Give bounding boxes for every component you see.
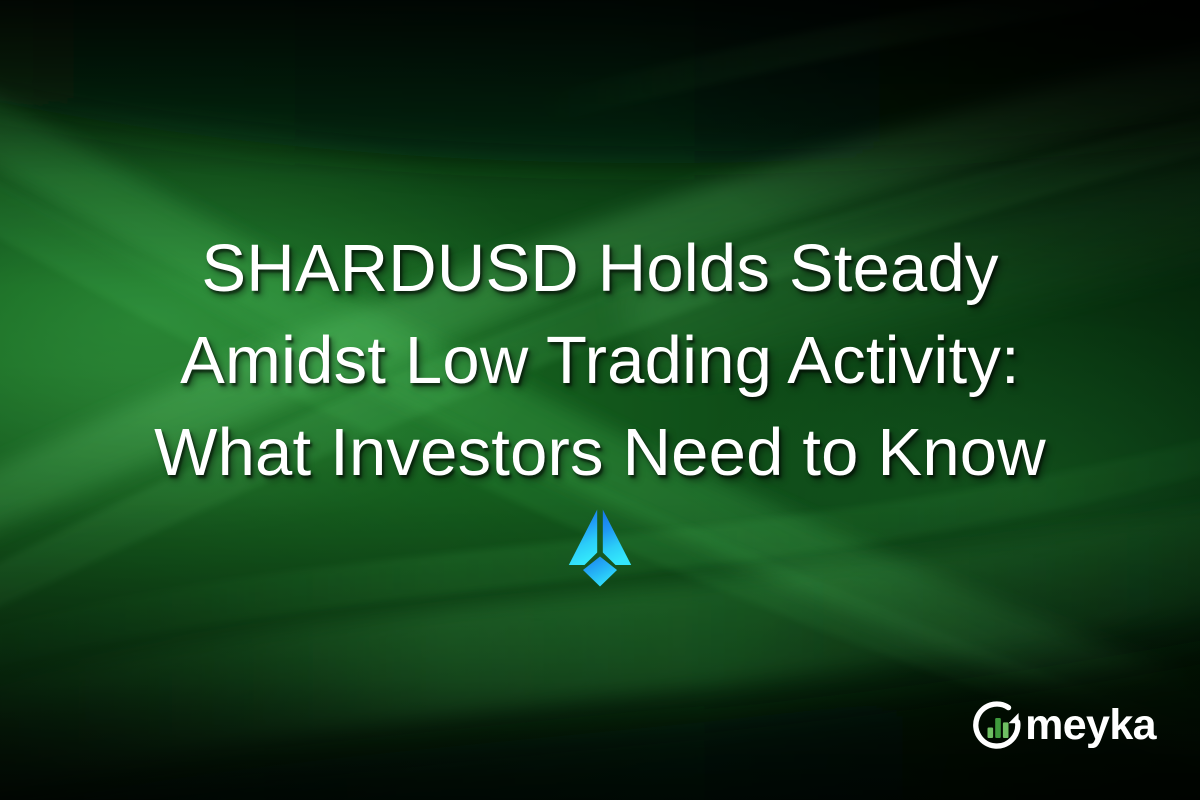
banner-headline: SHARDUSD Holds Steady Amidst Low Trading… (0, 223, 1200, 499)
shardeum-arrow-icon (566, 508, 634, 590)
headline-line-3: What Investors Need to Know (40, 407, 1160, 499)
headline-line-2: Amidst Low Trading Activity: (40, 315, 1160, 407)
article-banner: SHARDUSD Holds Steady Amidst Low Trading… (0, 0, 1200, 800)
brand-logo: meyka (972, 700, 1156, 752)
brand-name: meyka (1025, 704, 1156, 747)
meyka-ring-bars-icon (972, 700, 1024, 752)
headline-line-1: SHARDUSD Holds Steady (40, 223, 1160, 315)
